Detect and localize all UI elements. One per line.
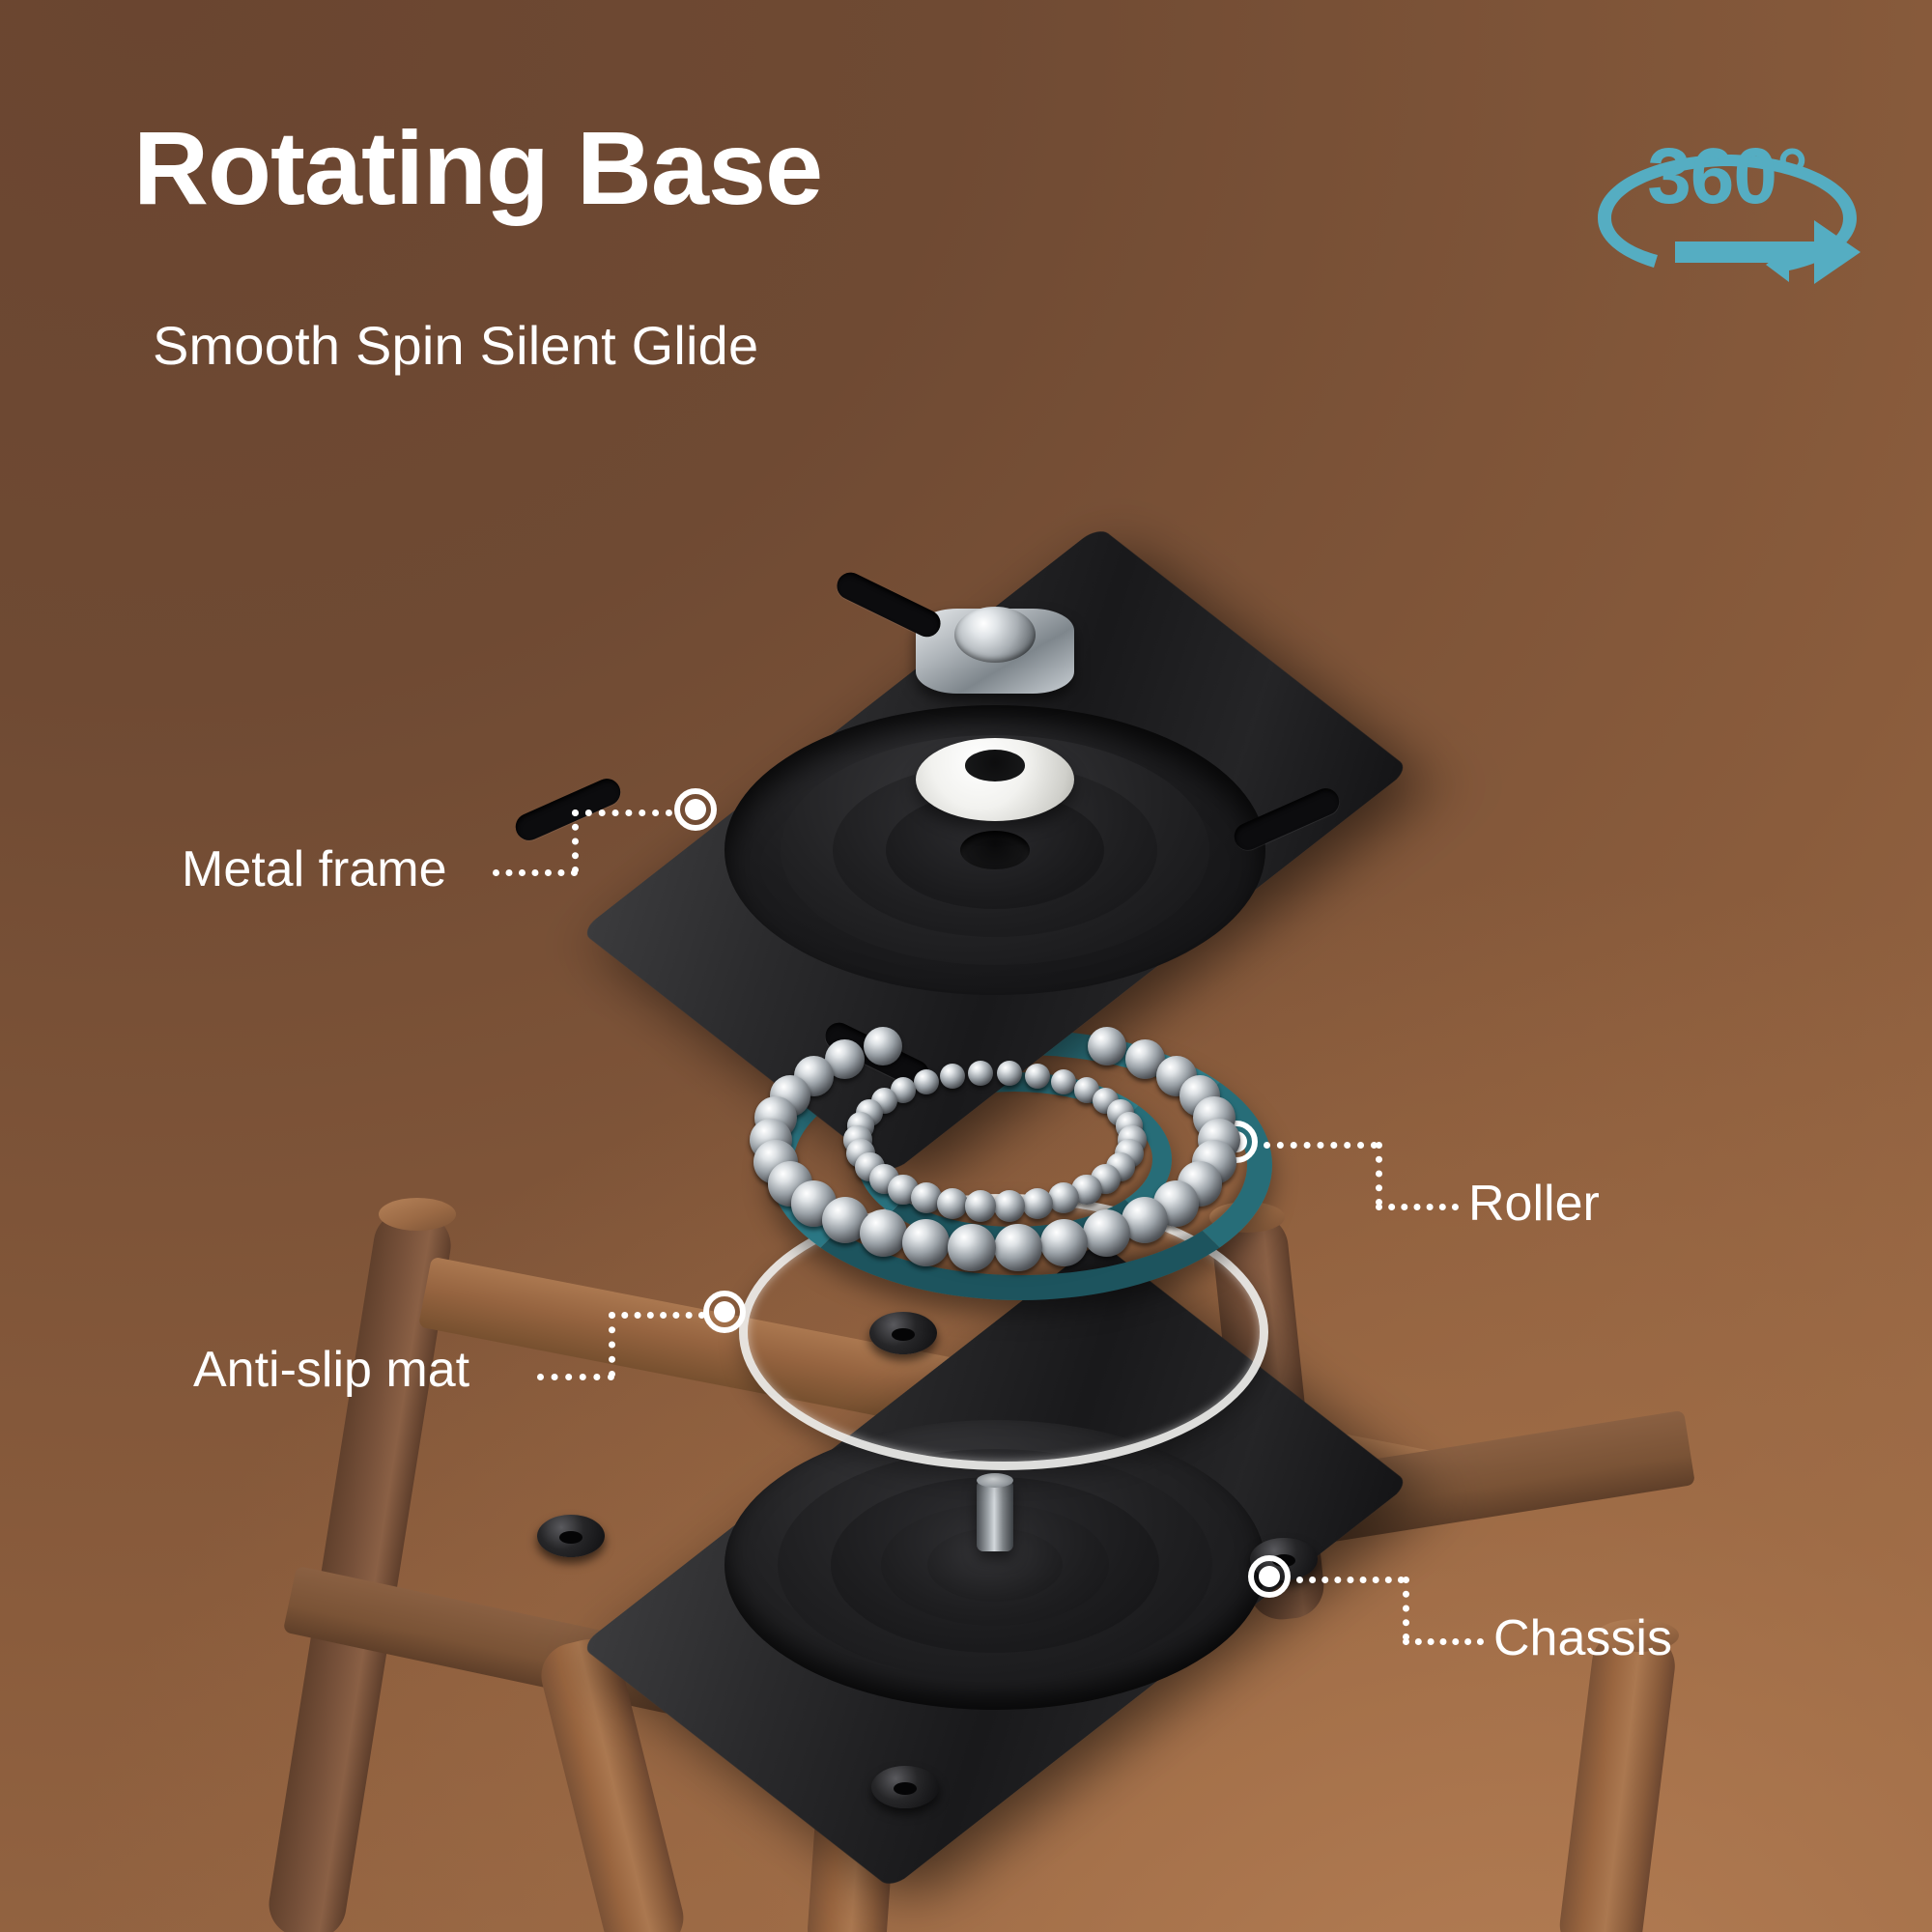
- callout-anti-slip-leader-a: [537, 1374, 614, 1380]
- roller-ball-inner: [1048, 1182, 1079, 1213]
- callout-roller-leader-c: [1376, 1204, 1459, 1210]
- chrome-ball-dome: [954, 607, 1036, 663]
- callout-chassis-marker[interactable]: [1248, 1555, 1291, 1598]
- rotation-badge: 360°: [1582, 126, 1872, 290]
- callout-chassis-label: Chassis: [1493, 1609, 1672, 1667]
- roller-ball-inner: [937, 1188, 968, 1219]
- callout-metal-frame-marker[interactable]: [674, 788, 717, 831]
- roller-ball-outer: [864, 1027, 902, 1065]
- roller-ball-outer: [860, 1209, 907, 1257]
- page-subtitle: Smooth Spin Silent Glide: [153, 314, 758, 377]
- callout-metal-frame-leader-a: [493, 869, 578, 876]
- infographic-canvas: Rotating Base Smooth Spin Silent Glide 3…: [0, 0, 1932, 1932]
- callout-metal-frame-label: Metal frame: [182, 840, 447, 898]
- roller-ball-inner: [994, 1190, 1025, 1221]
- nylon-washer: [916, 738, 1074, 821]
- callout-anti-slip-leader-b: [609, 1312, 615, 1378]
- roller-ball-inner: [1025, 1064, 1050, 1089]
- callout-anti-slip-mat-marker[interactable]: [703, 1291, 746, 1333]
- chassis-pivot-pin: [977, 1480, 1013, 1551]
- roller-ball-outer: [994, 1224, 1042, 1272]
- chassis-rivet-bottom: [871, 1766, 939, 1808]
- stool-leg-front-right: [1556, 1628, 1679, 1932]
- callout-chassis-leader-b: [1403, 1577, 1409, 1640]
- callout-chassis-leader-c: [1403, 1638, 1484, 1645]
- callout-anti-slip-mat-label: Anti-slip mat: [193, 1341, 469, 1399]
- metal-frame-center-hole: [960, 831, 1030, 869]
- callout-metal-frame-leader-b: [572, 810, 579, 873]
- callout-roller-leader-a: [1264, 1142, 1378, 1149]
- roller-ball-outer: [948, 1224, 996, 1272]
- callout-anti-slip-leader-c: [609, 1312, 705, 1319]
- chassis-rivet-left: [537, 1515, 605, 1557]
- roller-ball-inner: [1022, 1188, 1053, 1219]
- roller-ball-outer: [1088, 1027, 1126, 1065]
- roller-ball-outer: [902, 1219, 950, 1266]
- roller-ball-inner: [965, 1190, 996, 1221]
- callout-roller-label: Roller: [1468, 1175, 1600, 1233]
- rotation-badge-value: 360°: [1647, 131, 1807, 222]
- roller-ball-inner: [997, 1061, 1022, 1086]
- stool-leg-cap-back-left: [379, 1198, 456, 1231]
- callout-roller-leader-b: [1376, 1142, 1382, 1206]
- callout-chassis-leader-a: [1296, 1577, 1405, 1583]
- callout-metal-frame-leader-c: [572, 810, 672, 816]
- page-title: Rotating Base: [133, 116, 822, 220]
